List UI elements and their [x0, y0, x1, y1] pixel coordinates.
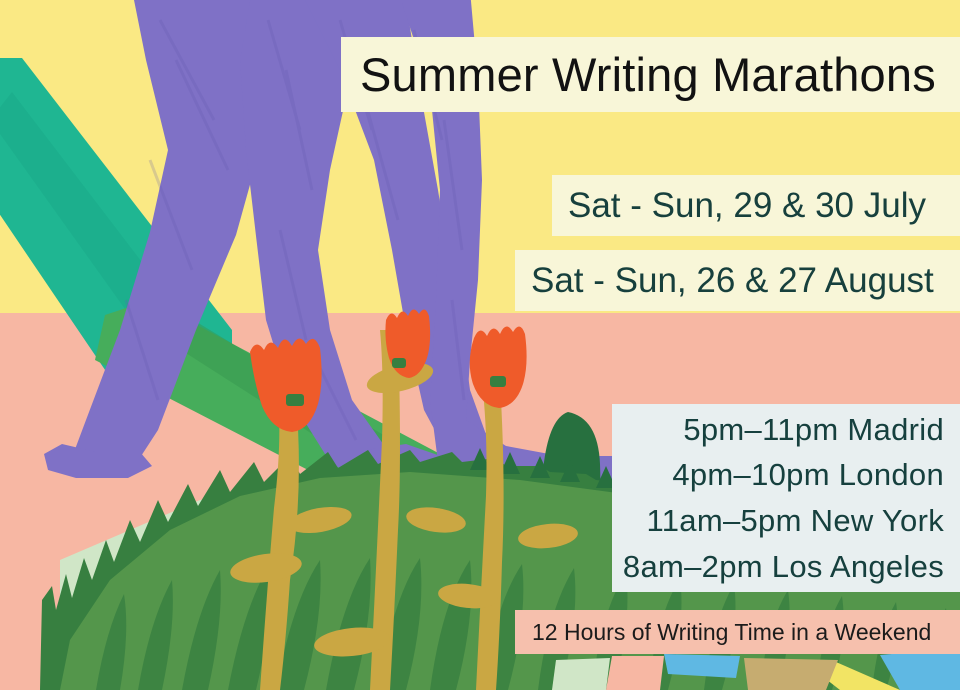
timezone-panel: 5pm–11pm Madrid 4pm–10pm London 11am–5pm…	[612, 404, 960, 592]
date-text-second: Sat - Sun, 26 & 27 August	[531, 263, 934, 298]
page-title: Summer Writing Marathons	[360, 51, 936, 98]
time-row-madrid: 5pm–11pm Madrid	[683, 407, 944, 453]
date-panel-second: Sat - Sun, 26 & 27 August	[515, 250, 960, 311]
time-row-los-angeles: 8am–2pm Los Angeles	[623, 544, 944, 590]
date-panel-first: Sat - Sun, 29 & 30 July	[552, 175, 960, 236]
time-row-new-york: 11am–5pm New York	[647, 498, 944, 544]
pale-sliver	[552, 658, 610, 690]
poster-canvas: Summer Writing Marathons Sat - Sun, 29 &…	[0, 0, 960, 690]
sand-patch-2	[744, 658, 838, 690]
title-panel: Summer Writing Marathons	[341, 37, 960, 112]
time-row-london: 4pm–10pm London	[672, 452, 944, 498]
footer-panel: 12 Hours of Writing Time in a Weekend	[515, 610, 960, 654]
footer-caption: 12 Hours of Writing Time in a Weekend	[532, 621, 931, 644]
date-text-first: Sat - Sun, 29 & 30 July	[568, 188, 926, 223]
water-patch-2	[664, 654, 740, 678]
pink-sliver	[606, 656, 664, 690]
